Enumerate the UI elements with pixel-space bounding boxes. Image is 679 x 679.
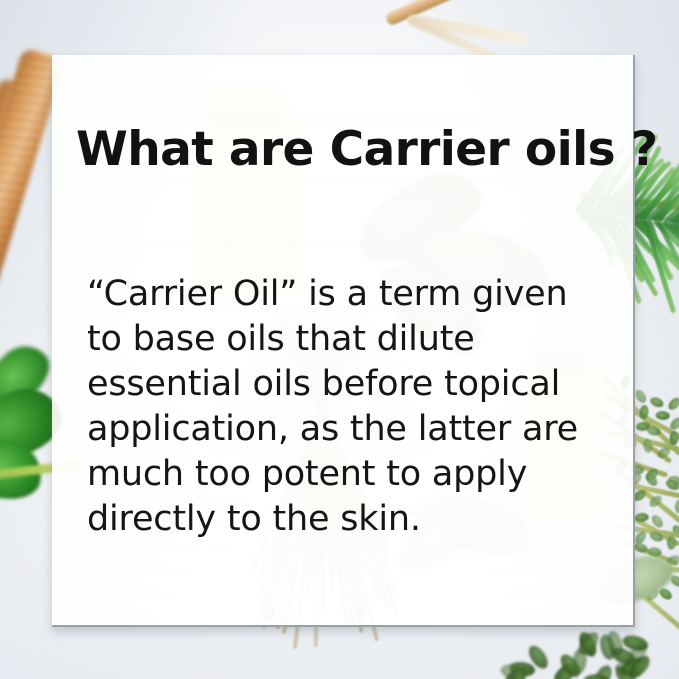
thyme-leaf [674,498,679,514]
thyme-leaf [651,570,667,582]
body-line: much too potent to apply [87,452,627,497]
body-line: to base oils that dilute [87,317,627,362]
thyme-leaf [634,388,649,405]
thyme-leaf [667,535,677,550]
body-paragraph: “Carrier Oil” is a term given to base oi… [87,272,627,542]
thyme-leaf [666,396,679,412]
body-line: directly to the skin. [87,497,627,542]
body-line: application, as the latter are [87,407,627,452]
page-title: What are Carrier oils ? [76,122,657,177]
graphic-canvas: What are Carrier oils ? “Carrier Oil” is… [0,0,679,679]
thyme-leaf [649,395,665,409]
body-line: essential oils before topical [87,362,627,407]
body-line: “Carrier Oil” is a term given [87,272,627,317]
thyme-leaf [655,410,670,420]
thyme-leaf [669,574,679,589]
thyme-leaf [635,513,650,523]
